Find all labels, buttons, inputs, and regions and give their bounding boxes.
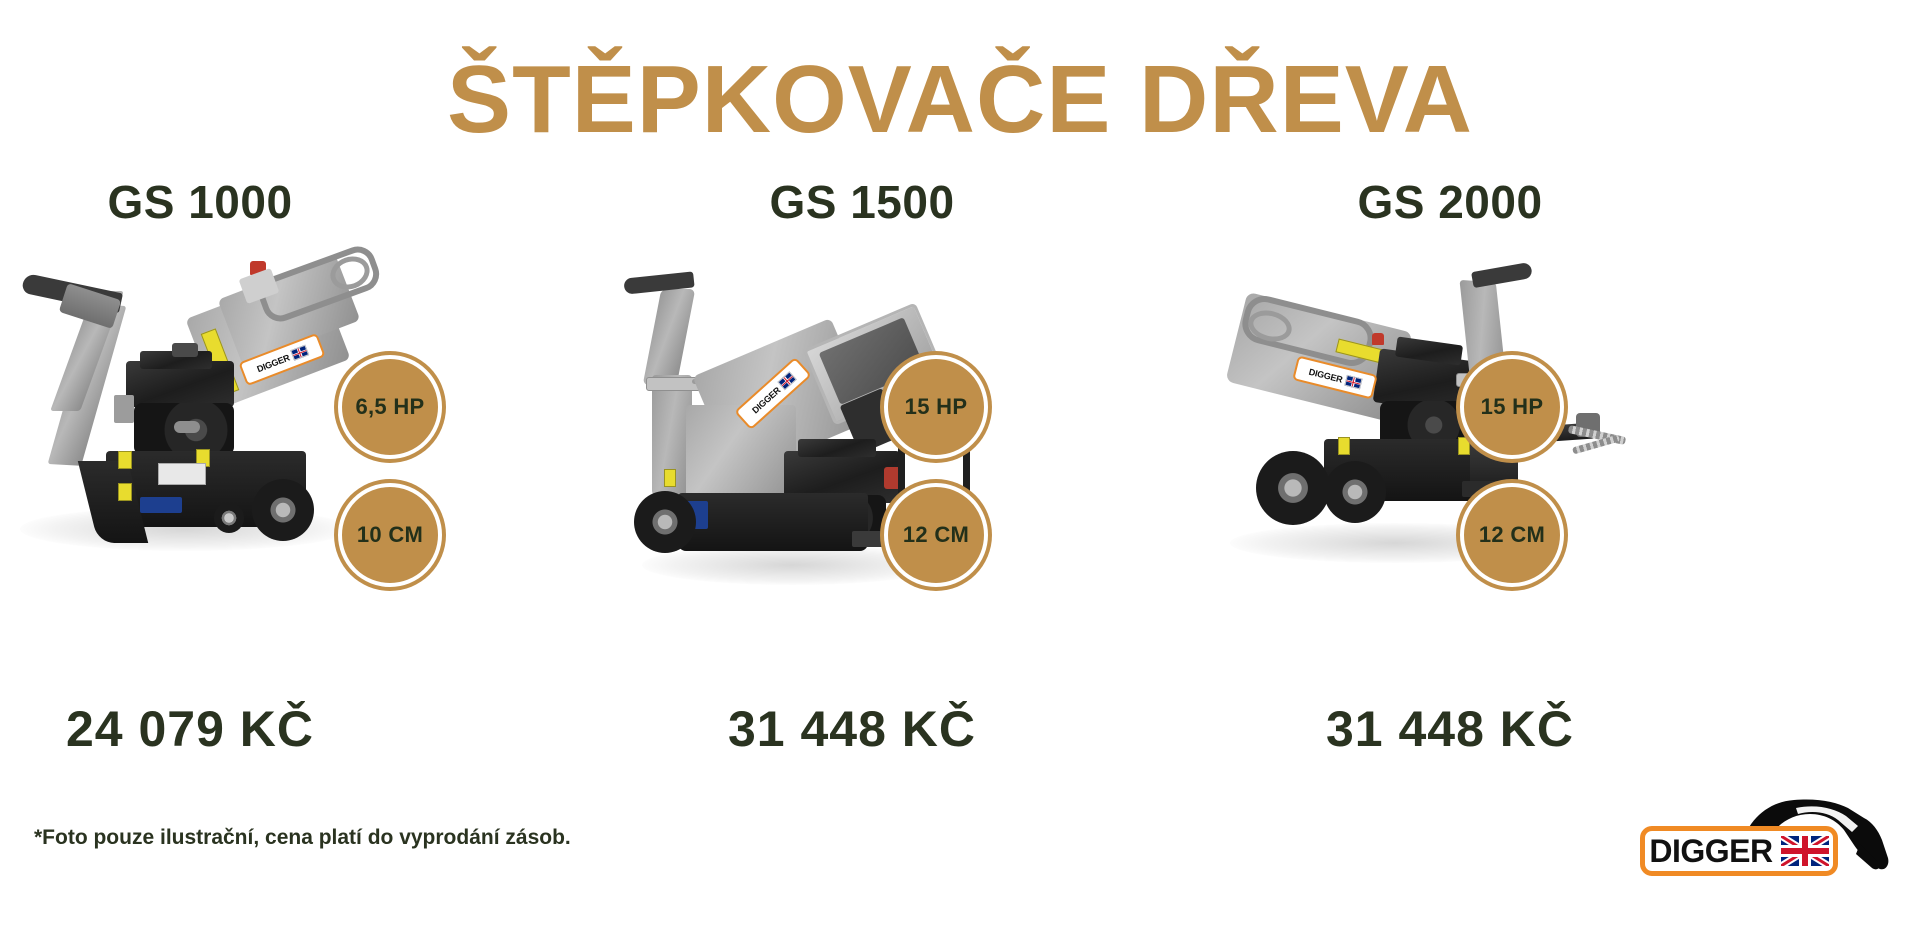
product-card-2: GS 1500 [612, 175, 1252, 815]
product-title: GS 1000 [0, 175, 410, 229]
product-image-gs2000: DIGGER [1220, 255, 1640, 585]
badge-power: 15 HP [1460, 355, 1564, 459]
union-jack-icon [777, 372, 796, 391]
badge-capacity: 12 CM [1460, 483, 1564, 587]
page-title: ŠTĚPKOVAČE DŘEVA [0, 48, 1920, 152]
product-price: 31 448 KČ [642, 700, 1062, 758]
spec-badges: 15 HP 12 CM [884, 355, 988, 611]
spec-badges: 6,5 HP 10 CM [338, 355, 442, 611]
union-jack-icon [1344, 375, 1362, 390]
badge-label: 12 CM [903, 522, 969, 548]
badge-power: 15 HP [884, 355, 988, 459]
badge-label: 12 CM [1479, 522, 1545, 548]
spec-badges: 15 HP 12 CM [1460, 355, 1564, 611]
badge-label: 6,5 HP [355, 394, 424, 420]
disclaimer-text: *Foto pouze ilustrační, cena platí do vy… [34, 826, 571, 850]
product-card-3: GS 2000 [1220, 175, 1860, 815]
union-jack-icon [1781, 836, 1829, 866]
digger-logo: DIGGER [1640, 790, 1890, 910]
product-price: 31 448 KČ [1240, 700, 1660, 758]
badge-label: 15 HP [905, 394, 968, 420]
product-title: GS 2000 [1240, 175, 1660, 229]
badge-label: 10 CM [357, 522, 423, 548]
logo-text: DIGGER [1649, 835, 1772, 867]
promo-banner: ŠTĚPKOVAČE DŘEVA GS 1000 [0, 0, 1920, 940]
logo-badge: DIGGER [1640, 826, 1838, 876]
badge-power: 6,5 HP [338, 355, 442, 459]
product-price: 24 079 KČ [0, 700, 400, 758]
badge-capacity: 12 CM [884, 483, 988, 587]
badge-label: 15 HP [1481, 394, 1544, 420]
decal-label: DIGGER [1308, 366, 1344, 384]
product-title: GS 1500 [652, 175, 1072, 229]
badge-capacity: 10 CM [338, 483, 442, 587]
union-jack-icon [290, 345, 309, 361]
decal-label: DIGGER [255, 352, 291, 374]
product-card-1: GS 1000 [0, 175, 640, 815]
